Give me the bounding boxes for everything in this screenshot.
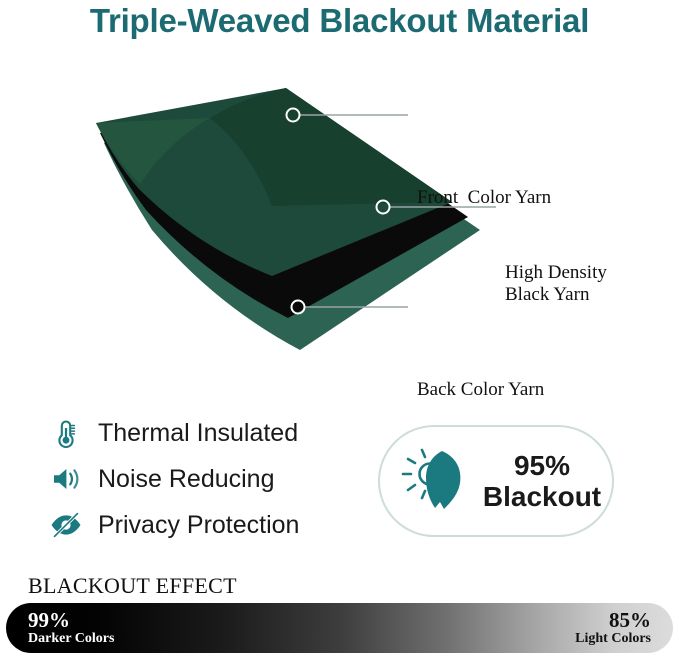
blackout-effect-heading: BLACKOUT EFFECT — [28, 573, 237, 599]
light-colors-percent: 85% — [575, 609, 651, 631]
darker-colors-percent: 99% — [28, 609, 114, 631]
feature-label-noise: Noise Reducing — [98, 465, 275, 494]
feature-label-privacy: Privacy Protection — [98, 511, 299, 540]
blackout-effect-gradient-bar: 99% Darker Colors 85% Light Colors — [6, 603, 673, 653]
callout-label-middle: High Density Black Yarn — [505, 262, 607, 306]
feature-label-thermal: Thermal Insulated — [98, 419, 298, 448]
gradient-right-labels: 85% Light Colors — [575, 609, 651, 646]
sun-blocked-by-curtain-icon — [400, 445, 478, 517]
thermometer-icon — [46, 413, 86, 453]
feature-item-thermal: Thermal Insulated — [46, 410, 366, 456]
page-title: Triple-Weaved Blackout Material — [0, 2, 679, 40]
blackout-percent: 95% — [514, 450, 570, 481]
callout-label-front: Front Color Yarn — [417, 187, 551, 209]
darker-colors-label: Darker Colors — [28, 631, 114, 646]
blackout-badge: 95% Blackout — [378, 425, 614, 537]
gradient-left-labels: 99% Darker Colors — [28, 609, 114, 646]
feature-list: Thermal Insulated Noise Reducing Privacy… — [46, 410, 366, 548]
feature-item-privacy: Privacy Protection — [46, 502, 366, 548]
triple-layer-fabric-diagram: Front Color Yarn High Density Black Yarn… — [0, 80, 679, 360]
light-colors-label: Light Colors — [575, 631, 651, 646]
blackout-label: Blackout — [483, 481, 601, 512]
speaker-sound-icon — [46, 459, 86, 499]
eye-slash-icon — [46, 505, 86, 545]
feature-item-noise: Noise Reducing — [46, 456, 366, 502]
blackout-badge-text: 95% Blackout — [478, 450, 612, 513]
callout-label-back: Back Color Yarn — [417, 379, 544, 401]
